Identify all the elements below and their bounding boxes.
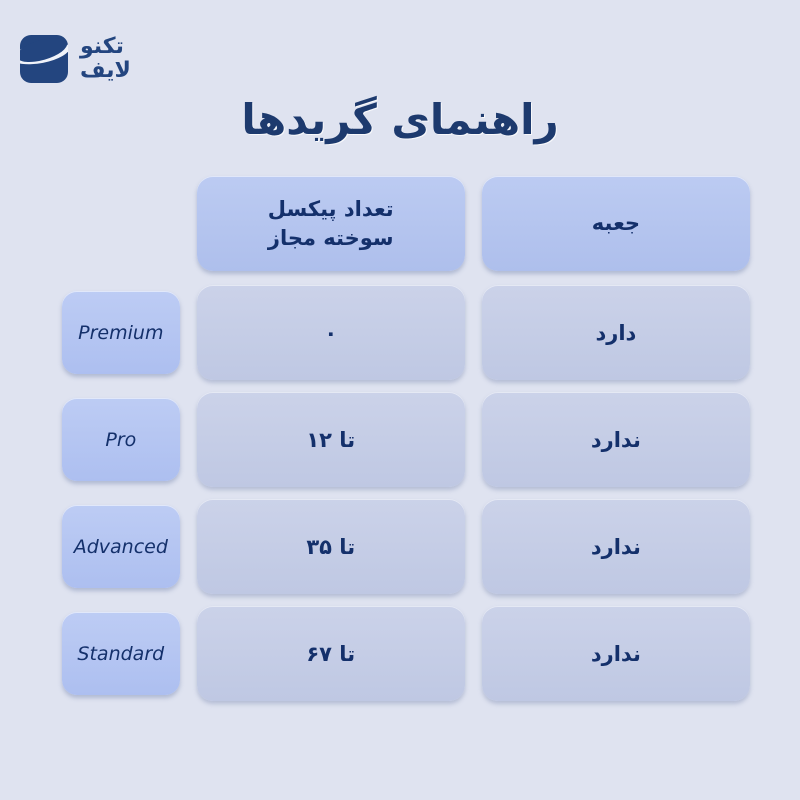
cell-dead-pixels: تا ۱۲ <box>197 392 465 487</box>
brand-logo: تکنو لایف <box>20 26 190 92</box>
page-title: راهنمای گریدها <box>0 95 800 144</box>
grade-badge-advanced[interactable]: Advanced <box>62 505 180 588</box>
table-header-row: جعبه تعداد پیکسل سوخته مجاز <box>62 176 750 271</box>
table-row: ندارد تا ۱۲ Pro <box>62 392 750 487</box>
brand-wordmark: تکنو لایف <box>80 35 131 83</box>
grade-guide-table: جعبه تعداد پیکسل سوخته مجاز دارد ۰ Premi… <box>62 176 750 713</box>
cell-box: ندارد <box>482 606 750 701</box>
grade-badge-pro[interactable]: Pro <box>62 398 180 481</box>
table-row: ندارد تا ۶۷ Standard <box>62 606 750 701</box>
brand-name-line-1: تکنو <box>80 35 124 59</box>
header-cell-box: جعبه <box>482 176 750 271</box>
table-row: ندارد تا ۳۵ Advanced <box>62 499 750 594</box>
table-row: دارد ۰ Premium <box>62 285 750 380</box>
cell-dead-pixels: ۰ <box>197 285 465 380</box>
techno-life-logo-mark-icon <box>20 35 68 83</box>
cell-box: دارد <box>482 285 750 380</box>
brand-name-line-2: لایف <box>80 59 131 83</box>
cell-dead-pixels: تا ۳۵ <box>197 499 465 594</box>
header-cell-grade-spacer <box>62 182 180 265</box>
cell-box: ندارد <box>482 499 750 594</box>
header-cell-dead-pixels: تعداد پیکسل سوخته مجاز <box>197 176 465 271</box>
grade-badge-premium[interactable]: Premium <box>62 291 180 374</box>
cell-box: ندارد <box>482 392 750 487</box>
cell-dead-pixels: تا ۶۷ <box>197 606 465 701</box>
grade-badge-standard[interactable]: Standard <box>62 612 180 695</box>
